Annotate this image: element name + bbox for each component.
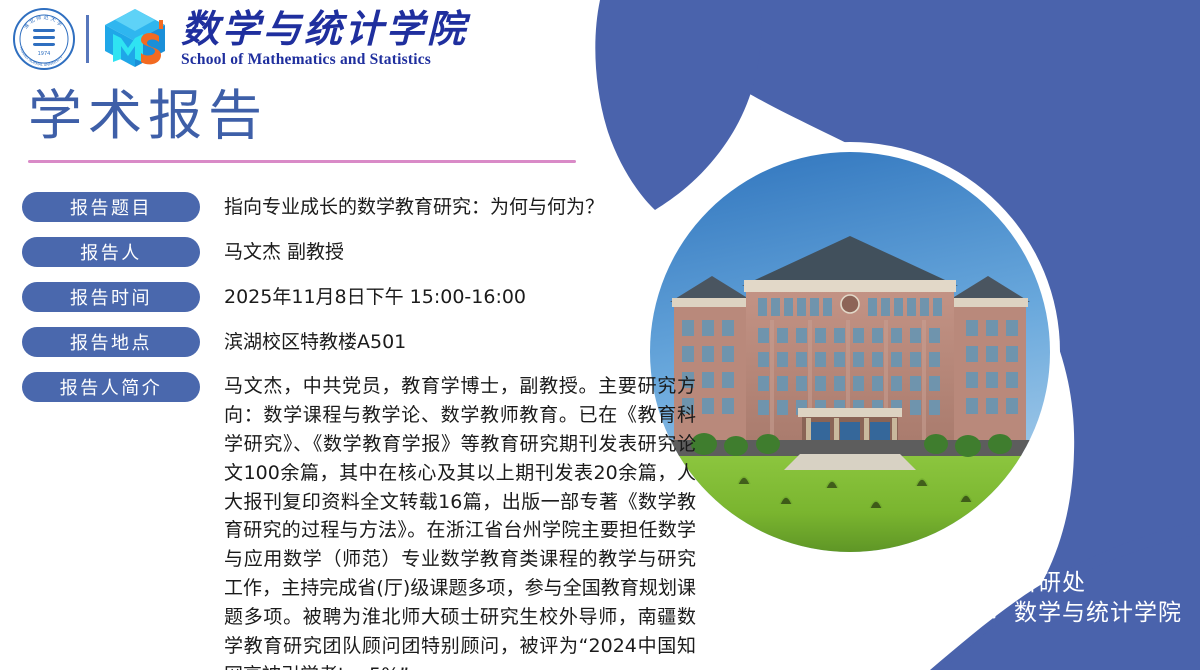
value-biography: 马文杰，中共党员，教育学博士，副教授。主要研究方向：数学课程与教学论、数学教师教…: [224, 372, 696, 670]
info-row-biography: 报告人简介 马文杰，中共党员，教育学博士，副教授。主要研究方向：数学课程与教学论…: [22, 372, 712, 670]
info-row-speaker: 报告人 马文杰 副教授: [22, 237, 712, 267]
organiser-label: 主办：: [940, 591, 1012, 628]
title-block: 学术报告: [28, 86, 576, 163]
organiser-line-2: 数学与统计学院: [1014, 599, 1182, 628]
value-time: 2025年11月8日下午 15:00-16:00: [224, 282, 712, 312]
title-divider: [28, 160, 576, 163]
lecture-info-list: 报告题目 指向专业成长的数学教育研究：为何与何为？ 报告人 马文杰 副教授 报告…: [22, 192, 712, 670]
svg-text:淮 北 师 范 大 学: 淮 北 师 范 大 学: [21, 13, 64, 31]
poster-header: 1974 淮 北 师 范 大 学 HUAIBEI NORMAL UNIVERSI…: [10, 4, 468, 74]
label-venue: 报告地点: [22, 327, 200, 357]
organiser-line-1: 科研处: [1014, 569, 1182, 598]
page-title: 学术报告: [28, 86, 576, 145]
school-name-block: 数学与统计学院 School of Mathematics and Statis…: [181, 9, 468, 69]
school-name-en: School of Mathematics and Statistics: [181, 51, 468, 69]
school-name-cn: 数学与统计学院: [181, 9, 468, 49]
organiser-lines: 科研处 数学与统计学院: [1014, 569, 1182, 628]
label-biography: 报告人简介: [22, 372, 200, 402]
label-time: 报告时间: [22, 282, 200, 312]
ms-cube-logo-icon: [99, 4, 171, 74]
info-row-time: 报告时间 2025年11月8日下午 15:00-16:00: [22, 282, 712, 312]
university-seal-icon: 1974 淮 北 师 范 大 学 HUAIBEI NORMAL UNIVERSI…: [10, 5, 82, 73]
info-row-topic: 报告题目 指向专业成长的数学教育研究：为何与何为？: [22, 192, 712, 222]
value-topic: 指向专业成长的数学教育研究：为何与何为？: [224, 192, 712, 222]
svg-text:1974: 1974: [38, 51, 51, 57]
academic-lecture-poster: 1974 淮 北 师 范 大 学 HUAIBEI NORMAL UNIVERSI…: [0, 0, 1200, 670]
label-topic: 报告题目: [22, 192, 200, 222]
organiser-block: 主办： 科研处 数学与统计学院: [940, 569, 1182, 628]
label-speaker: 报告人: [22, 237, 200, 267]
info-row-venue: 报告地点 滨湖校区特教楼A501: [22, 327, 712, 357]
value-venue: 滨湖校区特教楼A501: [224, 327, 712, 357]
value-speaker: 马文杰 副教授: [224, 237, 712, 267]
logo-divider: [86, 15, 89, 63]
